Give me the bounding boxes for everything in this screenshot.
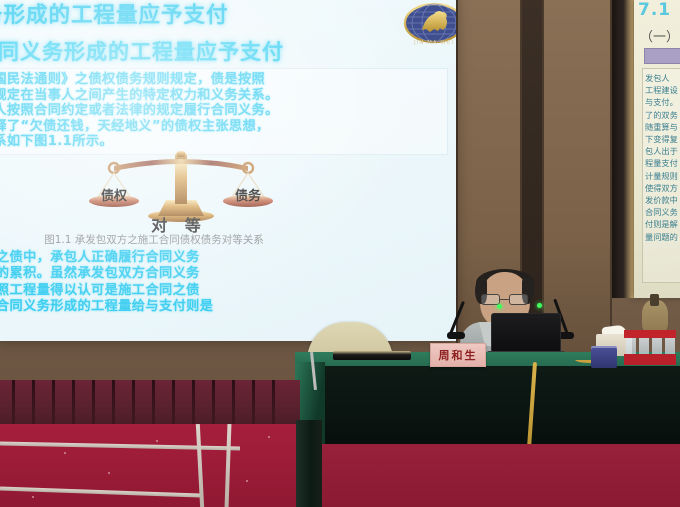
slide-p2-line1: 务工程合同之债中，承包人正确履行合同义务 xyxy=(0,250,448,266)
slide-title-line2: 行合同义务形成的工程量应予支付 xyxy=(0,36,456,66)
lecture-hall-scene: 同义务形成的工程量应予支付 行合同义务形成的工程量应予支付 人民共和国民法通则》… xyxy=(0,0,680,507)
right-slide-bar xyxy=(644,48,680,64)
slide-paragraph-1: 人民共和国民法通则》之债权债务规则规定，债是按照 或法律的规定在当事人之间产生的… xyxy=(0,68,448,155)
slide-p1-line2: 或法律的规定在当事人之间产生的特定权力和义务关系。 xyxy=(0,88,441,104)
slide-p2-line5: ”的。 xyxy=(0,316,448,332)
right-slide-subheading: （一） xyxy=(640,26,679,45)
slide-p2-line3: 性，然而按照工程量得以认可是施工合同之债 xyxy=(0,283,448,299)
microphone-right-led-icon xyxy=(537,303,542,308)
right-line-4: 随重算与 xyxy=(645,121,680,133)
right-slide-heading: 7.1 xyxy=(638,0,671,20)
slide-p1-line4: 意赅地阐释了“欠债还钱，天经地义”的债权主张思想， xyxy=(0,119,441,135)
slide-p2-line4: 人正确履行合同义务形成的工程量给与支付则是 xyxy=(0,299,448,315)
right-line-13: 量问题的 xyxy=(645,231,680,243)
right-line-2: 与支付。 xyxy=(645,96,680,108)
slide-p2-line2: 侧支付债权的累积。虽然承发包双方合同义务 xyxy=(0,266,448,282)
slide-p1-line3: 要求债务人按照合同约定或者法律的规定履行合同义务。 xyxy=(0,103,441,119)
table-skirt xyxy=(295,366,680,446)
logo-caption: JIN MA WEI xyxy=(398,40,456,46)
stage-front-skirt xyxy=(0,380,300,426)
right-line-1: 工程建设 xyxy=(645,84,680,96)
microphone-left-head xyxy=(447,332,465,339)
water-bottle-crate xyxy=(624,322,676,366)
right-line-6: 包人出于 xyxy=(645,145,680,157)
blue-box xyxy=(591,348,617,368)
right-line-10: 发价款中 xyxy=(645,194,680,206)
right-line-7: 程量支付 xyxy=(645,157,680,169)
laptop-lid xyxy=(491,313,561,353)
right-line-9: 使得双方 xyxy=(645,182,680,194)
speaker-nameplate-text: 周和生 xyxy=(439,347,478,363)
speaker-nameplate: 周和生 xyxy=(430,343,486,367)
vase-neck xyxy=(650,294,659,306)
right-line-8: 计量规则 xyxy=(645,170,680,182)
laptop-secondary xyxy=(333,351,411,360)
right-line-12: 付则是解 xyxy=(645,218,680,230)
stage-carpet-right xyxy=(300,444,680,507)
right-line-3: 了的双务 xyxy=(645,109,680,121)
main-projection-screen: 同义务形成的工程量应予支付 行合同义务形成的工程量应予支付 人民共和国民法通则》… xyxy=(0,0,456,341)
scales-right-label: 债务 xyxy=(235,188,262,204)
slide-p1-line1: 人民共和国民法通则》之债权债务规则规定，债是按照 xyxy=(0,72,441,88)
slide-title-line1: 同义务形成的工程量应予支付 xyxy=(0,0,456,29)
right-slide-body: 发包人 工程建设 与支付。 了的双务 随重算与 下变得复 包人出于 程量支付 计… xyxy=(642,68,680,283)
right-line-5: 下变得复 xyxy=(645,133,680,145)
scales-left-label: 债权 xyxy=(101,188,128,204)
speaker-glasses xyxy=(480,294,530,305)
stage-side-post xyxy=(296,420,322,507)
crate-band-top xyxy=(624,330,676,338)
right-line-11: 合同义务 xyxy=(645,206,680,218)
microphone-left-led-icon xyxy=(497,304,502,309)
right-projection-screen: 7.1 （一） 发包人 工程建设 与支付。 了的双务 随重算与 下变得复 包人出… xyxy=(634,0,680,298)
figure-caption: 图1.1 承发包双方之施工合同债权债务对等关系 xyxy=(0,232,324,247)
right-line-0: 发包人 xyxy=(645,72,680,84)
crate-band-bottom xyxy=(624,354,676,365)
slide-paragraph-2: 务工程合同之债中，承包人正确履行合同义务 侧支付债权的累积。虽然承发包双方合同义… xyxy=(0,250,448,332)
